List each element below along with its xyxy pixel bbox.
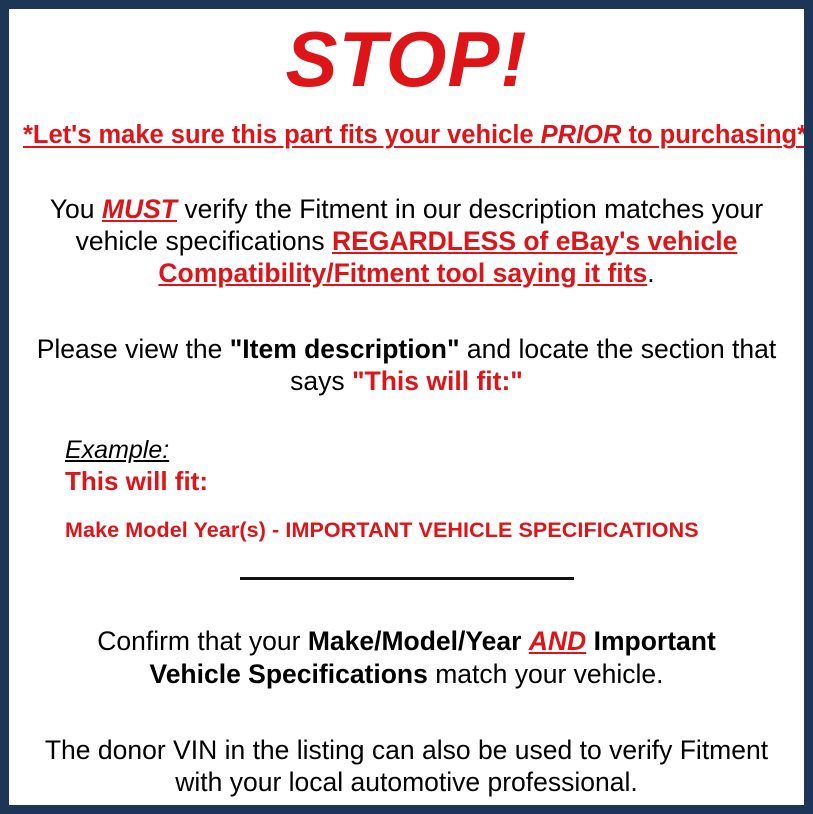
emphasis-item-description: "Item description" (230, 334, 460, 364)
emphasis-and: AND (529, 626, 586, 656)
confirm-space-2 (586, 626, 593, 656)
confirm-para-seg1: Confirm that your (97, 626, 308, 656)
example-spec-line: Make Model Year(s) - IMPORTANT VEHICLE S… (65, 518, 790, 543)
must-verify-paragraph: You MUST verify the Fitment in our descr… (23, 193, 790, 289)
notice-content: STOP! *Let's make sure this part fits yo… (9, 9, 804, 805)
subtitle-emphasis-prior: PRIOR (541, 121, 622, 149)
emphasis-must: MUST (102, 194, 177, 224)
emphasis-this-will-fit: "This will fit:" (352, 366, 523, 396)
must-para-seg3: . (647, 258, 654, 288)
example-block: Example: This will fit: Make Model Year(… (23, 437, 790, 543)
confirm-paragraph: Confirm that your Make/Model/Year AND Im… (23, 625, 790, 689)
confirm-para-seg2: match your vehicle. (428, 659, 664, 689)
donor-vin-paragraph: The donor VIN in the listing can also be… (23, 734, 790, 798)
subtitle-line: *Let's make sure this part fits your veh… (23, 121, 790, 150)
must-para-seg1: You (50, 194, 102, 224)
emphasis-make-model-year: Make/Model/Year (308, 626, 522, 656)
stop-heading: STOP! (23, 21, 790, 97)
fitment-notice-card: STOP! *Let's make sure this part fits yo… (0, 0, 813, 814)
example-label-row: Example: (65, 437, 790, 465)
subtitle-pre-text: *Let's make sure this part fits your veh… (23, 121, 541, 149)
item-description-paragraph: Please view the "Item description" and l… (23, 333, 790, 397)
confirm-space-1 (521, 626, 528, 656)
example-label: Example: (65, 437, 169, 465)
desc-para-seg1: Please view the (37, 334, 230, 364)
divider-wrap (23, 569, 790, 587)
example-fit-line: This will fit: (65, 467, 790, 497)
horizontal-divider (240, 577, 574, 580)
subtitle-post-text: to purchasing* (621, 121, 807, 149)
